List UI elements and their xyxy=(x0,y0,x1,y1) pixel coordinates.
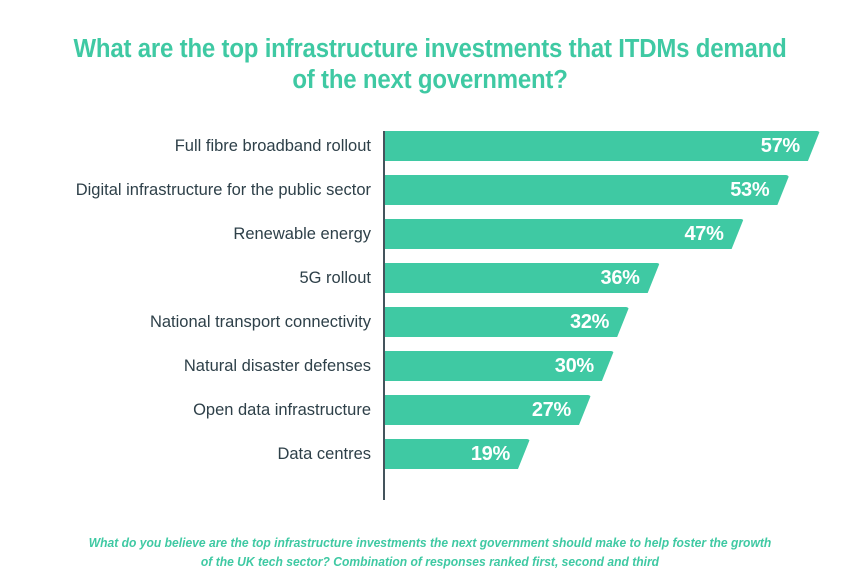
bar-row: Digital infrastructure for the public se… xyxy=(0,175,860,205)
bar-row: Full fibre broadband rollout57% xyxy=(0,131,860,161)
bar-row: National transport connectivity32% xyxy=(0,307,860,337)
page-title: What are the top infrastructure investme… xyxy=(63,34,796,96)
bar-row: 5G rollout36% xyxy=(0,263,860,293)
bar-row: Natural disaster defenses30% xyxy=(0,351,860,381)
bar-row: Open data infrastructure27% xyxy=(0,395,860,425)
chart-plot-area: Full fibre broadband rollout57%Digital i… xyxy=(0,131,860,503)
bar-value-label: 30% xyxy=(546,351,594,381)
bar-value-label: 27% xyxy=(523,395,571,425)
chart-caption-line-1: What do you believe are the top infrastr… xyxy=(60,534,799,553)
bar-category-label: 5G rollout xyxy=(299,263,371,293)
page-title-line-1: What are the top infrastructure investme… xyxy=(63,34,796,65)
bar-value-label: 19% xyxy=(462,439,510,469)
bar-value-label: 57% xyxy=(752,131,800,161)
bar-row: Data centres19% xyxy=(0,439,860,469)
bar-category-label: Natural disaster defenses xyxy=(184,351,371,381)
bar-row: Renewable energy47% xyxy=(0,219,860,249)
bar-value-label: 47% xyxy=(676,219,724,249)
bar-category-label: Digital infrastructure for the public se… xyxy=(76,175,371,205)
page-title-line-2: of the next government? xyxy=(63,65,796,96)
chart-caption-line-2: of the UK tech sector? Combination of re… xyxy=(60,553,799,572)
bar-series: Full fibre broadband rollout57%Digital i… xyxy=(0,131,860,503)
chart-caption: What do you believe are the top infrastr… xyxy=(60,534,799,572)
bar-value-label: 32% xyxy=(561,307,609,337)
bar-category-label: Data centres xyxy=(277,439,371,469)
bar-value-label: 36% xyxy=(592,263,640,293)
bar-category-label: Renewable energy xyxy=(233,219,371,249)
bar-value-label: 53% xyxy=(721,175,769,205)
bar-category-label: Full fibre broadband rollout xyxy=(175,131,371,161)
bar-category-label: Open data infrastructure xyxy=(193,395,371,425)
bar-category-label: National transport connectivity xyxy=(150,307,371,337)
